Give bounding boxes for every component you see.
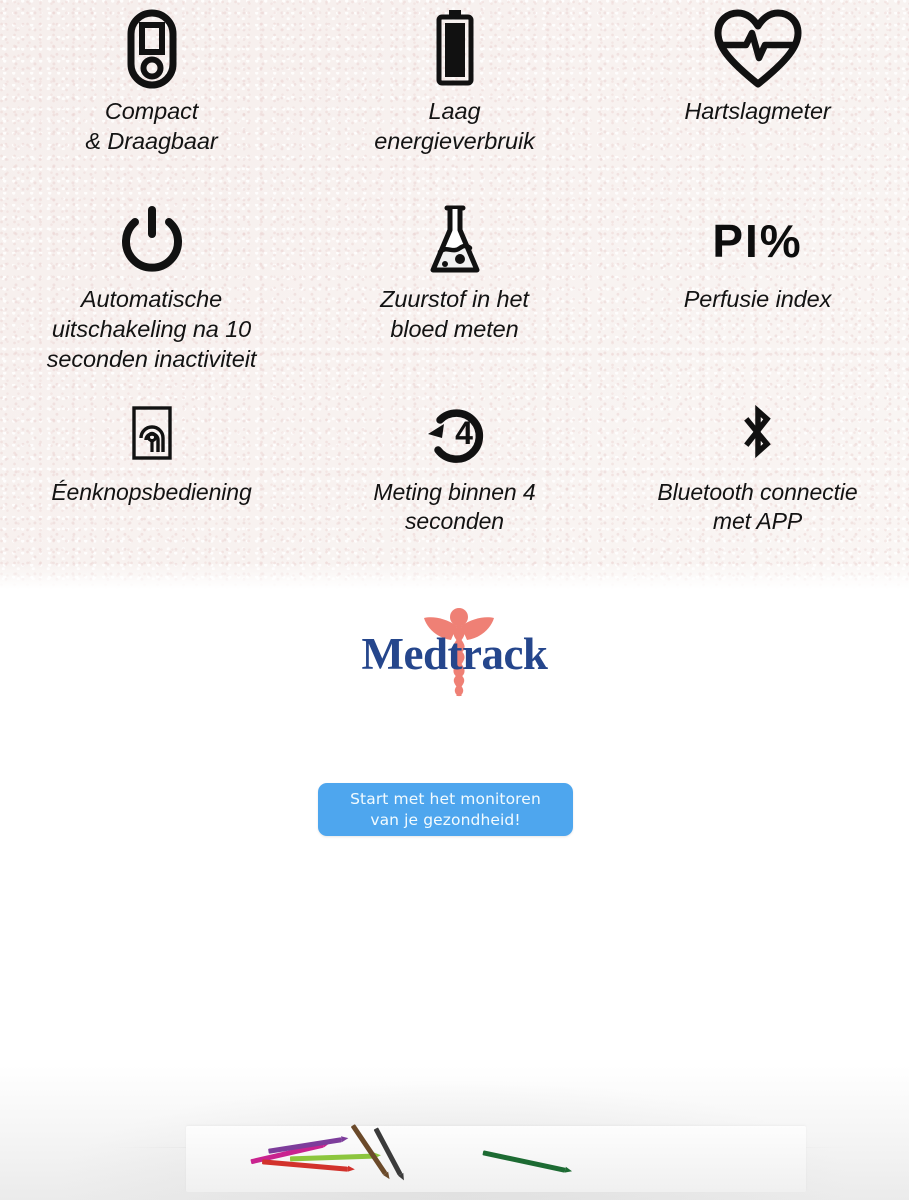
- feature-item-bluetooth-app: Bluetooth connectie met APP: [606, 402, 909, 582]
- feature-item-heart-rate: Hartslagmeter: [606, 8, 909, 204]
- feature-item-one-button: Éenknopsbediening: [0, 402, 303, 582]
- cta-banner[interactable]: Start met het monitoren van je gezondhei…: [318, 783, 573, 836]
- section-fade-divider: [0, 563, 909, 589]
- features-section: Compact & Draagbaar Laag energieverbruik…: [0, 0, 909, 589]
- feature-item-blood-oxygen: Zuurstof in het bloed meten: [303, 204, 606, 402]
- svg-text:4: 4: [455, 415, 473, 451]
- feature-label: Meting binnen 4 seconden: [373, 478, 535, 537]
- feature-label: Automatische uitschakeling na 10 seconde…: [47, 284, 257, 374]
- feature-item-compact-portable: Compact & Draagbaar: [0, 8, 303, 204]
- heart-pulse-icon: [712, 8, 804, 90]
- feature-item-low-power: Laag energieverbruik: [303, 8, 606, 204]
- feature-label: Hartslagmeter: [684, 96, 830, 126]
- flask-icon: [424, 204, 486, 278]
- brand-logo: Medtrack: [325, 606, 585, 702]
- cta-line-1: Start met het monitoren: [350, 789, 541, 809]
- power-button-icon: [119, 204, 185, 278]
- feature-label: Zuurstof in het bloed meten: [380, 284, 529, 344]
- feature-label: Éenknopsbediening: [51, 478, 251, 507]
- fingerprint-button-icon: [125, 402, 179, 468]
- brand-wordmark: Medtrack: [325, 632, 585, 677]
- four-seconds-refresh-icon: 4: [418, 402, 492, 468]
- battery-icon: [433, 8, 477, 90]
- brand-section: Medtrack: [0, 589, 909, 719]
- device-monitor-icon: [126, 8, 178, 90]
- feature-item-auto-shutdown: Automatische uitschakeling na 10 seconde…: [0, 204, 303, 402]
- feature-grid: Compact & Draagbaar Laag energieverbruik…: [0, 0, 909, 574]
- pi-percent-label: PI%: [712, 218, 802, 264]
- drawing-paper: [186, 1126, 806, 1192]
- feature-label: Compact & Draagbaar: [85, 96, 217, 156]
- feature-item-perfusion-index: PI% Perfusie index: [606, 204, 909, 402]
- feature-item-four-seconds: 4 Meting binnen 4 seconden: [303, 402, 606, 582]
- bluetooth-icon: [735, 402, 781, 468]
- feature-label: Perfusie index: [684, 284, 832, 314]
- cta-line-2: van je gezondheid!: [370, 810, 520, 830]
- pi-percent-text-icon: PI%: [712, 204, 802, 278]
- feature-label: Bluetooth connectie met APP: [657, 478, 857, 537]
- feature-label: Laag energieverbruik: [374, 96, 534, 156]
